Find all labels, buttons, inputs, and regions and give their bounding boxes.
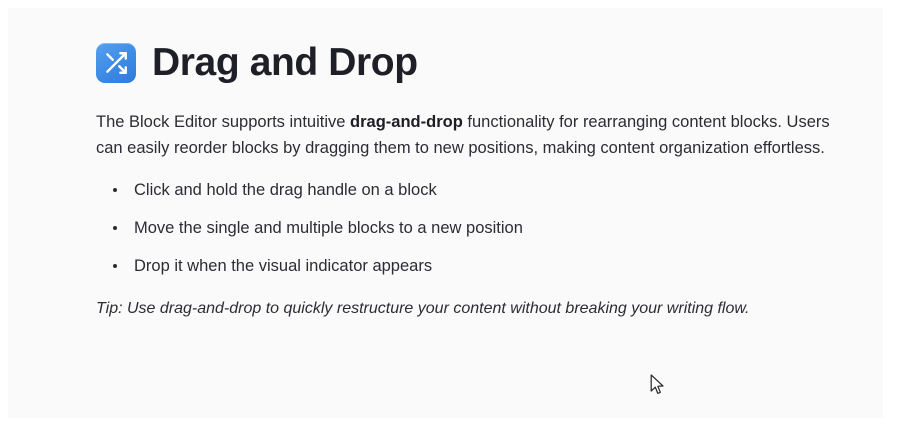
list-item-label: Click and hold the drag handle on a bloc…: [134, 181, 437, 199]
instruction-list: Click and hold the drag handle on a bloc…: [96, 179, 858, 277]
list-item-label: Move the single and multiple blocks to a…: [134, 219, 523, 237]
editor-canvas: Drag and Drop The Block Editor supports …: [8, 8, 883, 418]
list-item: Move the single and multiple blocks to a…: [96, 217, 858, 239]
intro-text-prefix: The Block Editor supports intuitive: [96, 113, 350, 131]
shuffle-icon: [96, 43, 136, 83]
screen-viewport: Drag and Drop The Block Editor supports …: [0, 0, 897, 427]
content-column: Drag and Drop The Block Editor supports …: [96, 34, 858, 337]
intro-text-bold: drag-and-drop: [350, 113, 463, 131]
bullet-dot-icon: [113, 226, 117, 230]
intro-paragraph: The Block Editor supports intuitive drag…: [96, 109, 848, 161]
page-title: Drag and Drop: [152, 43, 418, 84]
bullet-dot-icon: [113, 264, 117, 268]
bullet-dot-icon: [113, 188, 117, 192]
page-heading: Drag and Drop: [96, 34, 858, 92]
tip-text: Tip: Use drag-and-drop to quickly restru…: [96, 297, 858, 321]
list-item: Drop it when the visual indicator appear…: [96, 255, 858, 277]
list-item: Click and hold the drag handle on a bloc…: [96, 179, 858, 201]
list-item-label: Drop it when the visual indicator appear…: [134, 257, 432, 275]
